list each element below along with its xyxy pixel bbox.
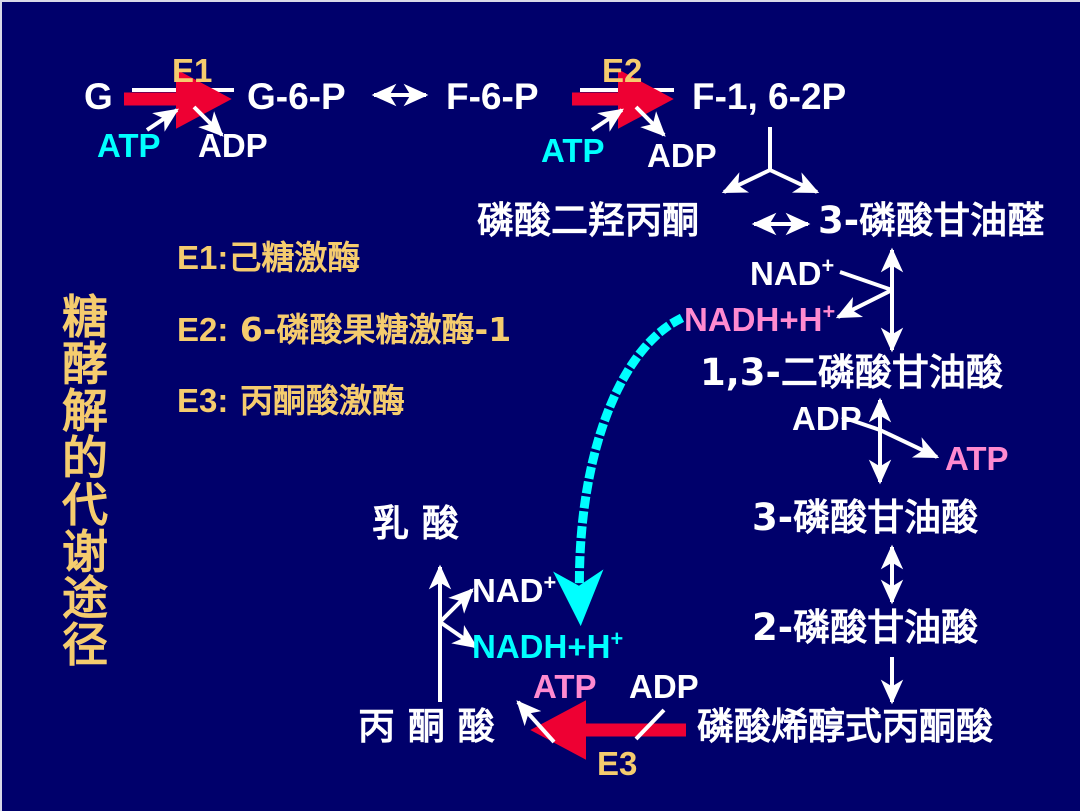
node-f16bp: F-1, 6-2P <box>692 78 846 115</box>
node-3pg: 3-磷酸甘油酸 <box>752 499 978 536</box>
node-dhap: 磷酸二羟丙酮 <box>477 202 699 239</box>
cofactor-atp-e1: ATP <box>97 129 161 162</box>
enzyme-label-e3: E3 <box>597 747 637 780</box>
node-bpg: 1,3-二磷酸甘油酸 <box>700 354 1003 391</box>
vtitle-char: 径 <box>54 622 116 669</box>
vtitle-char: 代 <box>54 482 116 529</box>
cofactor-atp-pgk: ATP <box>945 442 1009 475</box>
node-lactate: 乳 酸 <box>372 505 459 542</box>
cofactor-adp-e1: ADP <box>198 129 268 162</box>
vtitle-char: 酵 <box>54 341 116 388</box>
legend-item-e1: E1:己糖激酶 <box>177 241 360 274</box>
cofactor-nadh-ldh: NADH+H+ <box>472 628 623 663</box>
cofactor-nad-ldh: NAD+ <box>472 572 556 607</box>
legend-name: 6-磷酸果糖激酶-1 <box>228 310 511 349</box>
legend-key: E1: <box>177 239 228 276</box>
cofactor-adp-pgk: ADP <box>792 402 862 435</box>
node-glucose: G <box>84 78 113 115</box>
nadh-superscript: + <box>822 299 835 324</box>
arrow-g-to-g6p <box>124 90 234 99</box>
arrow-g3p-to-bpg <box>838 250 892 350</box>
nad-text: NAD <box>472 572 544 609</box>
node-f6p: F-6-P <box>446 78 539 115</box>
node-2pg: 2-磷酸甘油酸 <box>752 609 978 646</box>
glycolysis-slide: 糖 酵 解 的 代 谢 途 径 G E1 G-6-P F-6-P E2 F-1,… <box>0 0 1080 811</box>
nadh-text: NADH+H <box>684 301 822 338</box>
nadh-superscript: + <box>610 626 623 651</box>
node-g6p: G-6-P <box>247 78 346 115</box>
cofactor-adp-e2: ADP <box>647 139 717 172</box>
arrow-atp-adp-e2 <box>592 107 664 135</box>
cofactor-adp-pk: ADP <box>629 670 699 703</box>
vtitle-char: 途 <box>54 575 116 622</box>
enzyme-label-e1: E1 <box>172 54 212 87</box>
arrow-pyruvate-to-lactate <box>440 567 476 702</box>
arrow-f6p-to-f16bp <box>572 90 674 99</box>
vtitle-char: 的 <box>54 435 116 482</box>
vtitle-char: 解 <box>54 388 116 435</box>
arrow-pep-to-pyruvate <box>518 702 686 742</box>
legend-key: E2: <box>177 311 228 348</box>
legend-item-e2: E2: 6-磷酸果糖激酶-1 <box>177 313 511 346</box>
nadh-text: NADH+H <box>472 628 610 665</box>
nad-superscript: + <box>544 570 557 595</box>
legend-item-e3: E3: 丙酮酸激酶 <box>177 384 405 417</box>
vtitle-char: 糖 <box>54 294 116 341</box>
nad-text: NAD <box>750 255 822 292</box>
cofactor-atp-e2: ATP <box>541 134 605 167</box>
enzyme-label-e2: E2 <box>602 54 642 87</box>
arrow-nadh-shuttle-dotted <box>579 320 678 610</box>
arrow-aldolase-split <box>724 127 817 192</box>
cofactor-nad-oxidation: NAD+ <box>750 255 834 290</box>
vtitle-char: 谢 <box>54 529 116 576</box>
legend-name: 己糖激酶 <box>228 238 360 277</box>
node-pep: 磷酸烯醇式丙酮酸 <box>697 708 993 745</box>
cofactor-nadh-oxidation: NADH+H+ <box>684 301 835 336</box>
node-g3p: 3-磷酸甘油醛 <box>818 202 1044 239</box>
nad-superscript: + <box>822 253 835 278</box>
cofactor-atp-pk: ATP <box>533 670 597 703</box>
node-pyruvate: 丙 酮 酸 <box>358 708 495 745</box>
legend-key: E3: <box>177 382 228 419</box>
vertical-slide-title: 糖 酵 解 的 代 谢 途 径 <box>54 294 116 669</box>
legend-name: 丙酮酸激酶 <box>228 381 405 420</box>
